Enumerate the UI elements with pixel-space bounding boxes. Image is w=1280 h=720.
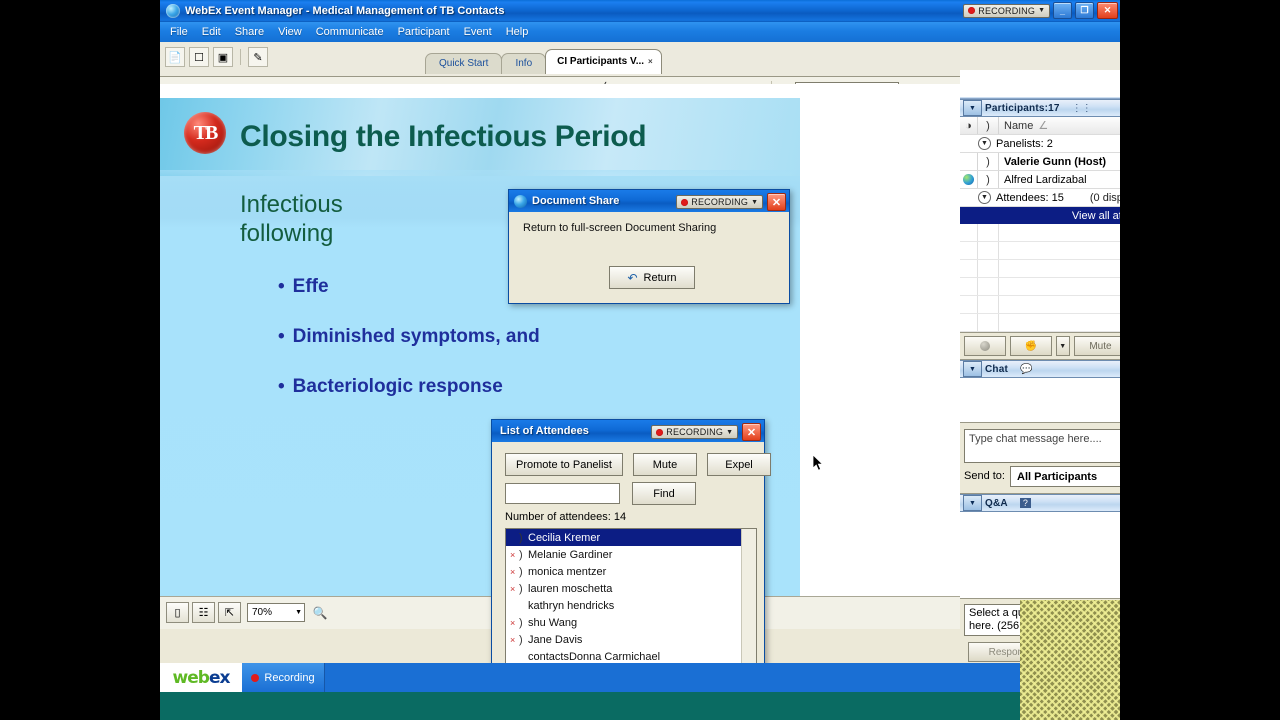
menu-item-event[interactable]: Event	[464, 26, 492, 38]
return-button[interactable]: ↶ Return	[609, 266, 695, 289]
tab-info[interactable]: Info	[501, 53, 546, 74]
mute-state-icon: ×	[510, 550, 519, 560]
raise-hand-icon: )	[519, 566, 528, 578]
participants-list: ◑ ) Name ∠ Tools ▼ Panelists: 2 )	[960, 117, 1120, 333]
attendee-name: shu Wang	[528, 617, 577, 629]
chat-message-history	[960, 378, 1120, 423]
menu-item-edit[interactable]: Edit	[202, 26, 221, 38]
slide-bullet-3: •Bacteriologic response	[278, 376, 798, 398]
recording-dot-icon	[681, 199, 688, 206]
return-label: Return	[644, 272, 677, 284]
chat-panel-header[interactable]: ▼ Chat 💬 –	[960, 360, 1120, 378]
menu-item-participant[interactable]: Participant	[398, 26, 450, 38]
attendee-name: contactsDonna Carmichael	[528, 651, 660, 663]
share-screen-icon[interactable]: ▣	[213, 47, 233, 67]
expander-icon[interactable]: ▼	[978, 191, 991, 204]
raise-hand-column-icon: )	[978, 117, 999, 134]
empty-row	[960, 224, 1120, 242]
empty-row	[960, 242, 1120, 260]
close-button[interactable]: ✕	[1097, 2, 1118, 19]
raise-hand-dropdown-caret-icon[interactable]: ▼	[1056, 336, 1070, 356]
qa-panel-title: Q&A	[985, 498, 1008, 509]
raise-hand-cell[interactable]: )	[978, 171, 999, 188]
full-screen-icon[interactable]: ⇱	[218, 602, 241, 623]
chevron-down-icon: ▼	[295, 609, 302, 616]
chat-input[interactable]: Type chat message here....	[964, 429, 1120, 463]
list-item[interactable]: ×)monica mentzer	[506, 563, 756, 580]
list-item[interactable]: ×)shu Wang	[506, 614, 756, 631]
audio-cell	[960, 153, 978, 170]
group-row-attendees[interactable]: ▼ Attendees: 15 (0 displayed)	[960, 189, 1120, 207]
thumbnail-view-icon[interactable]: ☷	[192, 602, 215, 623]
audio-dot-icon[interactable]	[964, 336, 1006, 356]
attendee-list[interactable]: )Cecilia Kremer ×)Melanie Gardiner ×)mon…	[505, 528, 757, 685]
dialog-title-bar: Document Share RECORDING ▼ ✕	[509, 190, 789, 212]
scrollbar[interactable]	[741, 529, 756, 684]
minimize-button[interactable]: _	[1053, 2, 1072, 19]
recording-dot-icon	[656, 429, 663, 436]
participants-toolbar: ✊ ▼ Mute 🎤 Pass Mic Invite... ▼	[960, 333, 1120, 360]
whiteboard-icon[interactable]: ✎	[248, 47, 268, 67]
letterbox-right	[1120, 0, 1280, 720]
recording-label: RECORDING	[691, 197, 748, 207]
menu-bar: File Edit Share View Communicate Partici…	[160, 22, 1120, 42]
bullet-3-text: Bacteriologic response	[293, 376, 503, 397]
panels-blank-area	[960, 70, 1120, 97]
empty-row	[960, 278, 1120, 296]
globe-icon	[963, 174, 974, 185]
side-panels: Panels ▼ ▼ Participants:17 ⋮⋮ – ◑ ) Name…	[960, 70, 1120, 692]
slide-title: Closing the Infectious Period	[240, 120, 646, 154]
recording-status-label: Recording	[264, 672, 314, 684]
dialog-message: Return to full-screen Document Sharing	[523, 222, 716, 234]
name-column-header[interactable]: Name ∠	[999, 117, 1120, 134]
promote-to-panelist-button[interactable]: Promote to Panelist	[505, 453, 623, 476]
panels-top-bar: Panels ▼	[960, 70, 1120, 99]
recording-indicator[interactable]: RECORDING ▼	[676, 195, 763, 209]
list-item[interactable]: ×)lauren moschetta	[506, 580, 756, 597]
menu-item-help[interactable]: Help	[506, 26, 529, 38]
attendee-name: monica mentzer	[528, 566, 606, 578]
view-all-attendees-button[interactable]: View all attendees...	[960, 207, 1120, 224]
tab-label: CI Participants V...	[557, 56, 644, 67]
webex-event-manager-window: WebEx Event Manager - Medical Management…	[160, 0, 1120, 692]
tb-logo-icon: TB	[184, 112, 226, 154]
participants-column-headers: ◑ ) Name ∠ Tools	[960, 117, 1120, 135]
mute-button[interactable]: Mute	[633, 453, 697, 476]
participant-row[interactable]: ) Alfred Lardizabal	[960, 171, 1120, 189]
letterbox-bottom-left	[0, 692, 160, 720]
raise-hand-icon: )	[519, 634, 528, 646]
tab-quick-start[interactable]: Quick Start	[425, 53, 502, 74]
raise-hand-icon: )	[519, 549, 528, 561]
collapse-caret-icon[interactable]: ▼	[963, 100, 982, 116]
empty-row	[960, 296, 1120, 314]
chevron-down-icon: ▼	[751, 199, 758, 206]
expel-button[interactable]: Expel	[707, 453, 771, 476]
chevron-down-icon: ▼	[726, 429, 733, 436]
bullet-2-text: Diminished symptoms, and	[293, 326, 540, 347]
chat-bubble-icon: 💬	[1020, 364, 1032, 375]
bullet-icon: •	[278, 326, 285, 347]
document-toolbar: 📄 ☐ ▣ ✎	[165, 47, 268, 67]
dialog-title-bar: List of Attendees RECORDING ▼ ✕	[492, 420, 764, 442]
audio-column-icon: ◑	[960, 117, 978, 134]
recording-label: RECORDING	[978, 6, 1035, 16]
participant-name: Alfred Lardizabal	[999, 171, 1120, 188]
participants-panel-title: Participants:17	[985, 103, 1060, 114]
send-to-label: Send to:	[964, 470, 1005, 482]
mute-state-icon: ×	[510, 567, 519, 577]
new-document-icon[interactable]: 📄	[165, 47, 185, 67]
attendee-name: Jane Davis	[528, 634, 582, 646]
menu-item-view[interactable]: View	[278, 26, 302, 38]
recording-indicator[interactable]: RECORDING ▼	[651, 425, 738, 439]
webex-logo-green: web	[173, 668, 209, 688]
group-label-panelists: Panelists: 2	[996, 138, 1053, 150]
qa-question-list[interactable]	[960, 512, 1120, 599]
tb-logo-text: TB	[194, 122, 217, 145]
webex-logo: webex	[160, 663, 242, 692]
attendee-name: Melanie Gardiner	[528, 549, 612, 561]
list-item[interactable]: ×)Melanie Gardiner	[506, 546, 756, 563]
slide-body-line1: Infectious	[240, 191, 343, 218]
close-button[interactable]: ✕	[767, 193, 786, 211]
help-question-icon[interactable]: ?	[1020, 498, 1031, 508]
qa-panel-header[interactable]: ▼ Q&A ? –	[960, 494, 1120, 512]
menu-item-share[interactable]: Share	[235, 26, 264, 38]
collapse-caret-icon[interactable]: ▼	[963, 361, 982, 377]
attendee-name: kathryn hendricks	[528, 600, 614, 612]
empty-row	[960, 314, 1120, 332]
tab-list: Quick Start Info CI Participants V...×	[425, 49, 661, 74]
mute-state-icon: ×	[510, 584, 519, 594]
raise-hand-icon[interactable]: ✊	[1010, 336, 1052, 356]
bullet-1-pre: Effe	[293, 276, 329, 297]
name-column-label: Name	[1004, 120, 1033, 132]
tab-ci-participants[interactable]: CI Participants V...×	[545, 49, 662, 74]
document-share-dialog[interactable]: Document Share RECORDING ▼ ✕ Return to f…	[508, 189, 790, 304]
raise-hand-icon: )	[519, 583, 528, 595]
window-title: WebEx Event Manager - Medical Management…	[185, 5, 504, 17]
attendees-displayed-count: (0 displayed)	[1090, 192, 1120, 204]
find-button[interactable]: Find	[632, 482, 696, 505]
bullet-icon: •	[278, 276, 285, 297]
recording-status-tab[interactable]: Recording	[242, 663, 325, 692]
recording-indicator[interactable]: RECORDING ▼	[963, 4, 1050, 18]
dialog-title: Document Share	[532, 195, 619, 207]
empty-row	[960, 260, 1120, 278]
mute-state-icon: ×	[510, 618, 519, 628]
send-to-select[interactable]: All Participants ▼	[1010, 466, 1120, 487]
close-button[interactable]: ✕	[742, 423, 761, 441]
desktop-hatch-pattern	[1020, 600, 1120, 720]
audio-cell	[960, 171, 978, 188]
chevron-down-icon: ▼	[1038, 7, 1045, 14]
mute-state-icon: ×	[510, 635, 519, 645]
undo-arrow-icon: ↶	[627, 271, 637, 285]
mouse-cursor	[813, 455, 825, 473]
desktop-teal-background	[160, 692, 1120, 720]
find-input[interactable]	[505, 483, 620, 504]
dialog-title: List of Attendees	[500, 425, 589, 437]
webex-globe-icon	[514, 195, 527, 208]
close-icon[interactable]: ×	[648, 57, 653, 66]
participant-row[interactable]: ) Valerie Gunn (Host)	[960, 153, 1120, 171]
slide-bullet-2: •Diminished symptoms, and	[278, 326, 798, 348]
letterbox-left	[0, 0, 160, 720]
group-row-panelists[interactable]: ▼ Panelists: 2	[960, 135, 1120, 153]
list-item[interactable]: kathryn hendricks	[506, 597, 756, 614]
toolbar-separator	[240, 49, 241, 65]
list-item[interactable]: )Cecilia Kremer	[506, 529, 746, 546]
recording-dot-icon	[968, 7, 975, 14]
send-to-value: All Participants	[1017, 471, 1097, 483]
chat-input-area: Type chat message here.... Send Send to:…	[960, 423, 1120, 494]
webex-globe-icon	[166, 4, 180, 18]
window-title-bar: WebEx Event Manager - Medical Management…	[160, 0, 1120, 22]
recording-label: RECORDING	[666, 427, 723, 437]
raise-hand-icon: )	[519, 617, 528, 629]
list-of-attendees-dialog[interactable]: List of Attendees RECORDING ▼ ✕ Promote …	[491, 419, 765, 692]
sort-icon: ∠	[1038, 119, 1048, 132]
webex-logo-blue: ex	[209, 668, 230, 688]
fit-page-icon[interactable]: ▯	[166, 602, 189, 623]
recording-dot-icon	[251, 674, 259, 682]
raise-hand-cell[interactable]: )	[978, 153, 999, 170]
zoom-in-icon[interactable]: 🔍	[310, 603, 330, 622]
expander-icon[interactable]: ▼	[978, 137, 991, 150]
raise-hand-icon: )	[519, 532, 528, 544]
screen-root: WebEx Event Manager - Medical Management…	[0, 0, 1280, 720]
open-window-icon[interactable]: ☐	[189, 47, 209, 67]
drag-grip-icon[interactable]: ⋮⋮	[1072, 103, 1092, 114]
chat-panel-title: Chat	[985, 364, 1008, 375]
participant-name: Valerie Gunn (Host)	[999, 153, 1120, 170]
zoom-level-value: 70%	[252, 607, 272, 618]
window-controls: RECORDING ▼ _ ❐ ✕	[963, 2, 1118, 19]
group-label-attendees: Attendees: 15	[996, 192, 1064, 204]
status-bar: webex Recording	[160, 663, 1120, 692]
attendee-count-label: Number of attendees: 14	[505, 511, 626, 523]
list-item[interactable]: ×)Jane Davis	[506, 631, 756, 648]
collapse-caret-icon[interactable]: ▼	[963, 495, 982, 511]
attendee-name: lauren moschetta	[528, 583, 612, 595]
menu-item-file[interactable]: File	[170, 26, 188, 38]
zoom-level-select[interactable]: 70% ▼	[247, 603, 305, 622]
bullet-icon: •	[278, 376, 285, 397]
restore-button[interactable]: ❐	[1075, 2, 1094, 19]
menu-item-communicate[interactable]: Communicate	[316, 26, 384, 38]
attendee-name: Cecilia Kremer	[528, 532, 600, 544]
mute-button[interactable]: Mute	[1074, 336, 1120, 356]
participants-panel-header[interactable]: ▼ Participants:17 ⋮⋮ –	[960, 99, 1120, 117]
